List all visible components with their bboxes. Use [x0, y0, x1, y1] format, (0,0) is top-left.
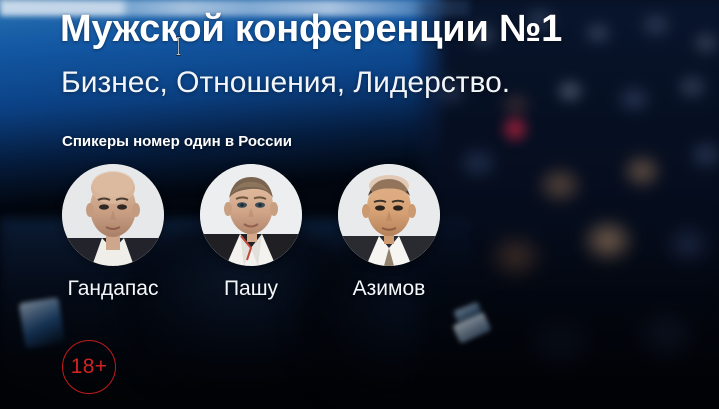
speaker-portrait-azimov-icon[interactable]: [338, 164, 440, 266]
speaker-name: Гандапас: [68, 277, 159, 301]
speakers-list: Гандапас: [62, 164, 452, 304]
speakers-section-label: Спикеры номер один в России: [62, 133, 292, 150]
page-title: Мужской конференции №1: [60, 8, 562, 51]
age-restriction-badge: 18+: [62, 340, 116, 394]
speaker-card-3[interactable]: Азимов: [338, 164, 440, 304]
speaker-name: Азимов: [353, 277, 426, 301]
speaker-name: Пашу: [224, 277, 278, 301]
page-subtitle: Бизнес, Отношения, Лидерство.: [61, 66, 510, 100]
speaker-card-1[interactable]: Гандапас: [62, 164, 164, 304]
conference-hero-banner: Мужской конференции №1 Бизнес, Отношения…: [0, 0, 719, 409]
speaker-portrait-gandapas-icon[interactable]: [62, 164, 164, 266]
speaker-portrait-pashu-icon[interactable]: [200, 164, 302, 266]
speaker-card-2[interactable]: Пашу: [200, 164, 302, 304]
